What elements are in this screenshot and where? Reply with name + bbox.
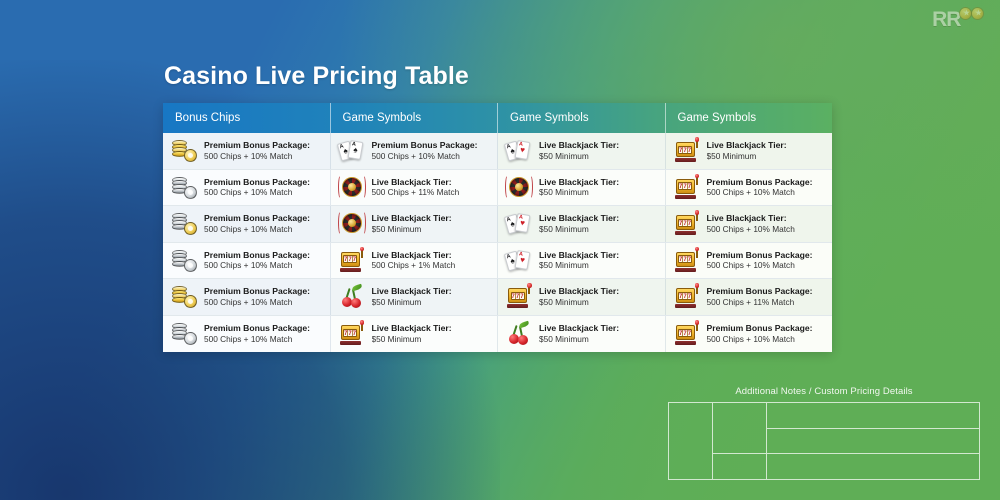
- rr99-logo: RR 99: [926, 6, 988, 32]
- table-cell: Premium Bonus Package:500 Chips + 10% Ma…: [163, 243, 331, 279]
- cell-subtitle: $50 Minimum: [372, 297, 452, 307]
- table-cell: Live Blackjack Tier:500 Chips + 11% Matc…: [331, 170, 499, 206]
- table-cell: A♠A♥Live Blackjack Tier:$50 Minimum: [498, 206, 666, 242]
- table-cell: A♠A♥Live Blackjack Tier:$50 Minimum: [498, 243, 666, 279]
- table-cell: 777Premium Bonus Package:500 Chips + 10%…: [666, 243, 833, 279]
- notes-cell-right-2[interactable]: [767, 429, 979, 455]
- notes-cell-middle-bottom[interactable]: [713, 454, 766, 479]
- cell-title: Live Blackjack Tier:: [372, 213, 452, 224]
- cell-subtitle: $50 Minimum: [707, 151, 787, 161]
- cell-subtitle: 500 Chips + 10% Match: [204, 187, 310, 197]
- notes-column-middle: [713, 403, 767, 479]
- table-cell: 777Premium Bonus Package:500 Chips + 11%…: [666, 279, 833, 315]
- cell-subtitle: 500 Chips + 10% Match: [707, 224, 795, 234]
- cell-title: Premium Bonus Package:: [204, 140, 310, 151]
- cell-subtitle: $50 Minimum: [372, 334, 452, 344]
- table-cell: 777Live Blackjack Tier:$50 Minimum: [666, 133, 833, 169]
- page-title: Casino Live Pricing Table: [164, 62, 469, 91]
- logo-coin-icon: [960, 8, 971, 19]
- table-cell: A♠A♥Live Blackjack Tier:$50 Minimum: [498, 133, 666, 169]
- cell-subtitle: 500 Chips + 10% Match: [204, 151, 310, 161]
- cell-subtitle: 500 Chips + 10% Match: [204, 224, 310, 234]
- table-cell: Premium Bonus Package:500 Chips + 10% Ma…: [163, 316, 331, 353]
- cell-subtitle: 500 Chips + 11% Match: [707, 297, 813, 307]
- cell-title: Live Blackjack Tier:: [539, 323, 619, 334]
- cell-title: Premium Bonus Package:: [204, 286, 310, 297]
- table-header-row: Bonus Chips Game Symbols Game Symbols Ga…: [163, 103, 832, 133]
- column-header-game-symbols-2: Game Symbols: [331, 103, 499, 133]
- cell-subtitle: 500 Chips + 10% Match: [707, 187, 813, 197]
- notes-cell-right-1[interactable]: [767, 403, 979, 429]
- cell-subtitle: 500 Chips + 11% Match: [372, 187, 460, 197]
- additional-notes-title: Additional Notes / Custom Pricing Detail…: [668, 386, 980, 397]
- table-cell: Premium Bonus Package:500 Chips + 10% Ma…: [163, 170, 331, 206]
- table-cell: Live Blackjack Tier:$50 Minimum: [331, 279, 499, 315]
- cell-subtitle: 500 Chips + 10% Match: [204, 260, 310, 270]
- cell-title: Live Blackjack Tier:: [372, 286, 452, 297]
- cell-subtitle: 500 Chips + 10% Match: [707, 260, 813, 270]
- cell-title: Live Blackjack Tier:: [372, 177, 460, 188]
- table-row: Premium Bonus Package:500 Chips + 10% Ma…: [163, 243, 832, 280]
- logo-text-rr: RR: [932, 9, 960, 30]
- cell-title: Premium Bonus Package:: [707, 177, 813, 188]
- table-cell: 777Premium Bonus Package:500 Chips + 10%…: [666, 170, 833, 206]
- table-cell: Premium Bonus Package:500 Chips + 10% Ma…: [163, 133, 331, 169]
- pricing-table: Bonus Chips Game Symbols Game Symbols Ga…: [163, 103, 832, 352]
- notes-cell-middle-top[interactable]: [713, 403, 766, 454]
- logo-text-99: 99: [960, 9, 981, 30]
- notes-column-right: [767, 403, 979, 479]
- cell-subtitle: 500 Chips + 10% Match: [707, 334, 813, 344]
- screenshot-canvas: RR 99 Casino Live Pricing Table Bonus Ch…: [0, 0, 1000, 500]
- table-row: Premium Bonus Package:500 Chips + 10% Ma…: [163, 316, 832, 353]
- cell-title: Live Blackjack Tier:: [539, 286, 619, 297]
- table-cell: 777Live Blackjack Tier:$50 Minimum: [498, 279, 666, 315]
- cell-subtitle: $50 Minimum: [539, 334, 619, 344]
- table-cell: 777Live Blackjack Tier:500 Chips + 1% Ma…: [331, 243, 499, 279]
- column-header-game-symbols-3: Game Symbols: [498, 103, 666, 133]
- table-cell: Live Blackjack Tier:$50 Minimum: [498, 170, 666, 206]
- cell-subtitle: 500 Chips + 10% Match: [204, 297, 310, 307]
- column-header-bonus-chips: Bonus Chips: [163, 103, 331, 133]
- notes-cell-right-3[interactable]: [767, 454, 979, 479]
- notes-cell-left[interactable]: [669, 403, 713, 479]
- cell-title: Premium Bonus Package:: [707, 286, 813, 297]
- table-cell: A♠A♠Premium Bonus Package:500 Chips + 10…: [331, 133, 499, 169]
- table-cell: 777Live Blackjack Tier:$50 Minimum: [331, 316, 499, 353]
- column-header-game-symbols-4: Game Symbols: [666, 103, 833, 133]
- cell-title: Live Blackjack Tier:: [539, 140, 619, 151]
- cell-title: Live Blackjack Tier:: [539, 250, 619, 261]
- cell-subtitle: 500 Chips + 1% Match: [372, 260, 456, 270]
- cell-title: Live Blackjack Tier:: [372, 323, 452, 334]
- cell-subtitle: $50 Minimum: [372, 224, 452, 234]
- table-row: Premium Bonus Package:500 Chips + 10% Ma…: [163, 279, 832, 316]
- cell-title: Live Blackjack Tier:: [707, 213, 795, 224]
- cell-title: Live Blackjack Tier:: [539, 213, 619, 224]
- cell-title: Premium Bonus Package:: [204, 177, 310, 188]
- table-cell: Live Blackjack Tier:$50 Minimum: [331, 206, 499, 242]
- table-cell: Premium Bonus Package:500 Chips + 10% Ma…: [163, 279, 331, 315]
- cell-subtitle: $50 Minimum: [539, 260, 619, 270]
- cell-title: Premium Bonus Package:: [707, 250, 813, 261]
- table-cell: Premium Bonus Package:500 Chips + 10% Ma…: [163, 206, 331, 242]
- table-body: Premium Bonus Package:500 Chips + 10% Ma…: [163, 133, 832, 352]
- table-cell: Live Blackjack Tier:$50 Minimum: [498, 316, 666, 353]
- table-cell: 777Live Blackjack Tier:500 Chips + 10% M…: [666, 206, 833, 242]
- cell-title: Premium Bonus Package:: [204, 323, 310, 334]
- cell-subtitle: $50 Minimum: [539, 297, 619, 307]
- cell-subtitle: $50 Minimum: [539, 151, 619, 161]
- cell-title: Live Blackjack Tier:: [707, 140, 787, 151]
- table-row: Premium Bonus Package:500 Chips + 10% Ma…: [163, 133, 832, 170]
- table-cell: 777Premium Bonus Package:500 Chips + 10%…: [666, 316, 833, 353]
- cell-title: Premium Bonus Package:: [707, 323, 813, 334]
- cell-title: Live Blackjack Tier:: [539, 177, 619, 188]
- cell-title: Premium Bonus Package:: [204, 213, 310, 224]
- table-row: Premium Bonus Package:500 Chips + 10% Ma…: [163, 206, 832, 243]
- logo-coin-icon: [972, 8, 983, 19]
- cell-subtitle: 500 Chips + 10% Match: [204, 334, 310, 344]
- additional-notes-section: Additional Notes / Custom Pricing Detail…: [668, 386, 980, 480]
- table-row: Premium Bonus Package:500 Chips + 10% Ma…: [163, 170, 832, 207]
- cell-title: Premium Bonus Package:: [372, 140, 478, 151]
- additional-notes-grid: [668, 402, 980, 480]
- cell-subtitle: $50 Minimum: [539, 187, 619, 197]
- cell-subtitle: 500 Chips + 10% Match: [372, 151, 478, 161]
- cell-title: Premium Bonus Package:: [204, 250, 310, 261]
- cell-title: Live Blackjack Tier:: [372, 250, 456, 261]
- cell-subtitle: $50 Minimum: [539, 224, 619, 234]
